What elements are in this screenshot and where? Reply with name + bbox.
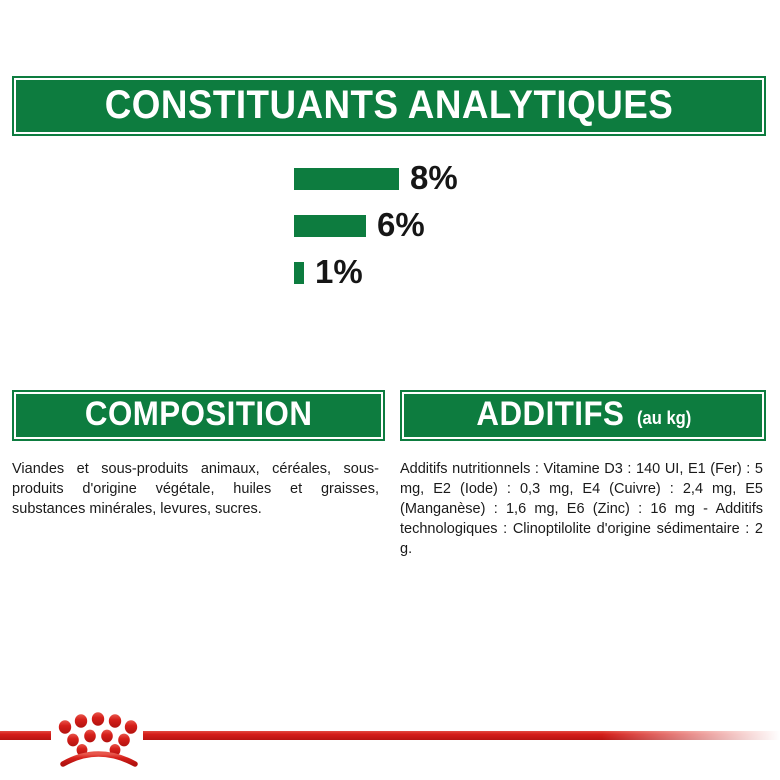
additifs-body-text: Additifs nutritionnels : Vitamine D3 : 1… xyxy=(400,459,763,559)
chart-value-protein: 8% xyxy=(410,156,458,200)
chart-bar-track-crude-fat xyxy=(294,215,366,237)
composition-body-text: Viandes et sous-produits animaux, céréal… xyxy=(12,459,379,519)
chart-bar-crude-fat xyxy=(294,215,366,237)
royal-canin-crown-logo xyxy=(53,700,145,780)
banner-inner-border: COMPOSITION xyxy=(14,392,383,439)
chart-row: Protéine 8% xyxy=(0,156,500,203)
chart-value-crude-fibre: 1% xyxy=(315,250,363,294)
chart-row: Cellulose brute 1% xyxy=(0,250,500,297)
chart-bar-track-crude-fibre xyxy=(294,262,304,284)
chart-bar-protein xyxy=(294,168,399,190)
banner-inner-border: ADDITIFS (au kg) xyxy=(402,392,764,439)
analytical-constituents-title: CONSTITUANTS ANALYTIQUES xyxy=(105,83,674,128)
composition-banner: COMPOSITION xyxy=(12,390,385,441)
nutrition-bar-chart: Protéine 8% Matières grasses brutes 6% C… xyxy=(0,156,500,297)
chart-row: Matières grasses brutes 6% xyxy=(0,203,500,250)
footer-rule-left xyxy=(0,731,51,740)
chart-value-crude-fat: 6% xyxy=(377,203,425,247)
additifs-banner: ADDITIFS (au kg) xyxy=(400,390,766,441)
chart-bar-track-protein xyxy=(294,168,399,190)
additifs-title: ADDITIFS xyxy=(477,395,625,434)
analytical-constituents-banner: CONSTITUANTS ANALYTIQUES xyxy=(12,76,766,136)
banner-inner-border: CONSTITUANTS ANALYTIQUES xyxy=(14,78,764,134)
chart-bar-crude-fibre xyxy=(294,262,304,284)
additifs-subtitle: (au kg) xyxy=(637,408,691,429)
footer xyxy=(0,700,780,780)
composition-title: COMPOSITION xyxy=(85,395,313,434)
footer-rule-right xyxy=(143,731,780,740)
